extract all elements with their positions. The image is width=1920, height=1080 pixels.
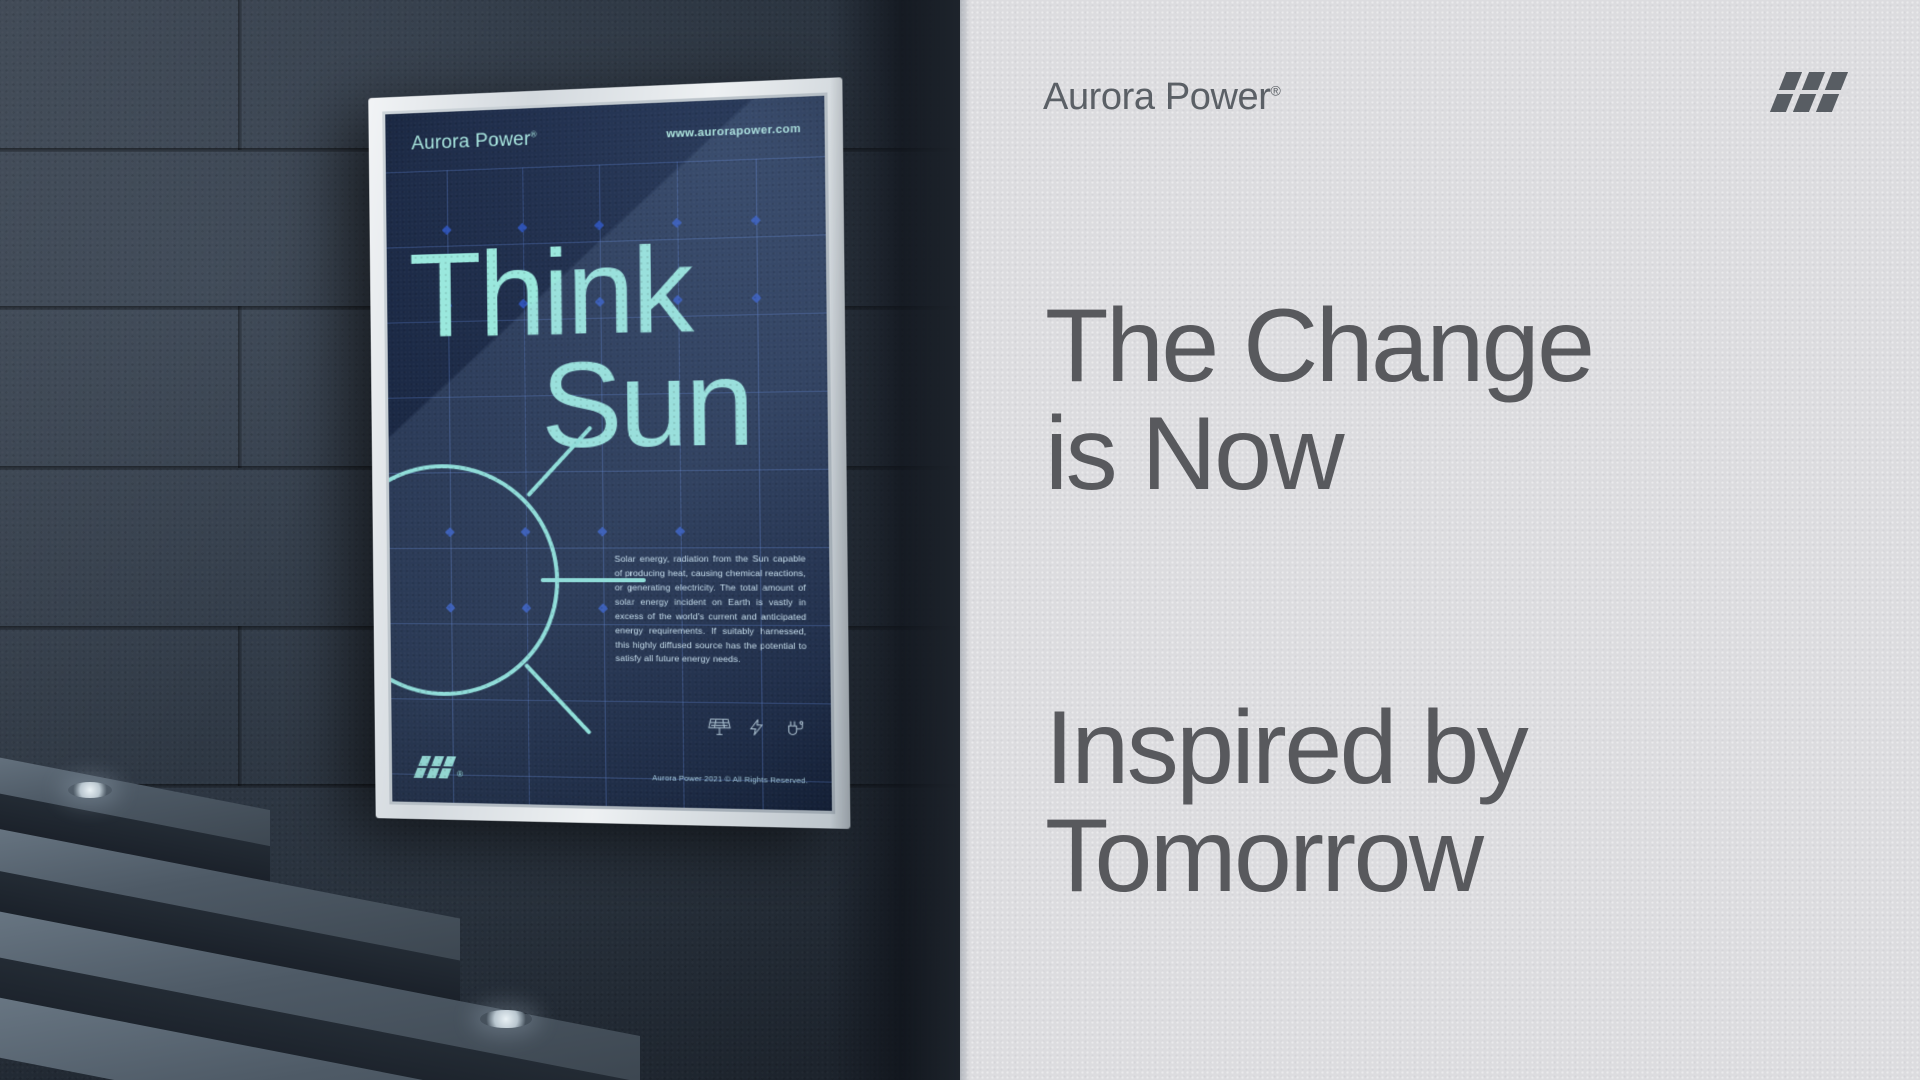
text-panel [960,0,1920,1080]
headline-line-4: Tomorrow [1045,802,1526,910]
step-floor-light [480,1010,532,1028]
headline-line-1: The Change [1045,292,1592,400]
wall-mortar-line [238,0,242,150]
panel-texture [960,0,1920,1080]
solar-poster: Aurora Power® www.aurorapower.com Think … [385,96,832,811]
photo-edge-shadow [830,0,960,1080]
poster-presentation-slide: Aurora Power® www.aurorapower.com Think … [0,0,1920,1080]
aurora-logo-icon [1778,72,1840,117]
panel-brand: Aurora Power® [1043,76,1280,119]
step-floor-light [68,782,112,798]
panel-brand-mark: ® [1271,82,1281,98]
panel-left-edge [960,0,970,1080]
wall-mortar-line [238,306,242,468]
headline-line-3: Inspired by [1045,694,1526,802]
headline-block-1: The Change is Now [1045,292,1592,508]
billboard-photo-scene: Aurora Power® www.aurorapower.com Think … [0,0,960,1080]
headline-line-2: is Now [1045,400,1592,508]
panel-brand-text: Aurora Power [1043,76,1271,118]
poster-vignette [385,96,832,811]
headline-block-2: Inspired by Tomorrow [1045,694,1526,910]
billboard-frame: Aurora Power® www.aurorapower.com Think … [368,77,850,829]
